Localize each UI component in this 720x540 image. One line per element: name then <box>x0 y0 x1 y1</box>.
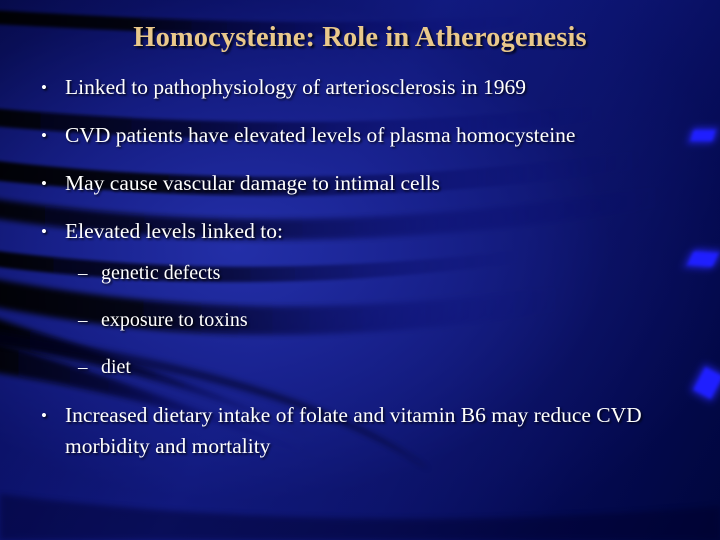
bullet-item: • Elevated levels linked to: <box>0 216 720 247</box>
bullet-marker-icon: • <box>41 168 65 199</box>
dash-marker-icon: – <box>78 259 101 288</box>
presentation-slide: Homocysteine: Role in Atherogenesis • Li… <box>0 0 720 540</box>
bullet-item: • May cause vascular damage to intimal c… <box>0 168 720 199</box>
bullet-text: May cause vascular damage to intimal cel… <box>65 168 675 199</box>
bullet-text: CVD patients have elevated levels of pla… <box>65 120 675 151</box>
sub-bullet-text: exposure to toxins <box>101 306 720 335</box>
bullet-list: • Linked to pathophysiology of arteriosc… <box>0 72 720 473</box>
sub-bullet-text: diet <box>101 353 720 382</box>
sub-bullet-item: – exposure to toxins <box>0 306 720 335</box>
bullet-text: Linked to pathophysiology of arterioscle… <box>65 72 675 103</box>
bullet-text: Increased dietary intake of folate and v… <box>65 400 675 462</box>
bullet-marker-icon: • <box>41 72 65 103</box>
bullet-marker-icon: • <box>41 400 65 431</box>
bullet-item: • CVD patients have elevated levels of p… <box>0 120 720 151</box>
sub-bullet-text: genetic defects <box>101 259 720 288</box>
bullet-marker-icon: • <box>41 216 65 247</box>
slide-title: Homocysteine: Role in Atherogenesis <box>0 22 720 54</box>
bullet-item: • Linked to pathophysiology of arteriosc… <box>0 72 720 103</box>
bullet-marker-icon: • <box>41 120 65 151</box>
sub-bullet-item: – genetic defects <box>0 259 720 288</box>
dash-marker-icon: – <box>78 306 101 335</box>
dash-marker-icon: – <box>78 353 101 382</box>
bullet-text: Elevated levels linked to: <box>65 216 675 247</box>
sub-bullet-item: – diet <box>0 353 720 382</box>
bullet-item: • Increased dietary intake of folate and… <box>0 400 720 462</box>
